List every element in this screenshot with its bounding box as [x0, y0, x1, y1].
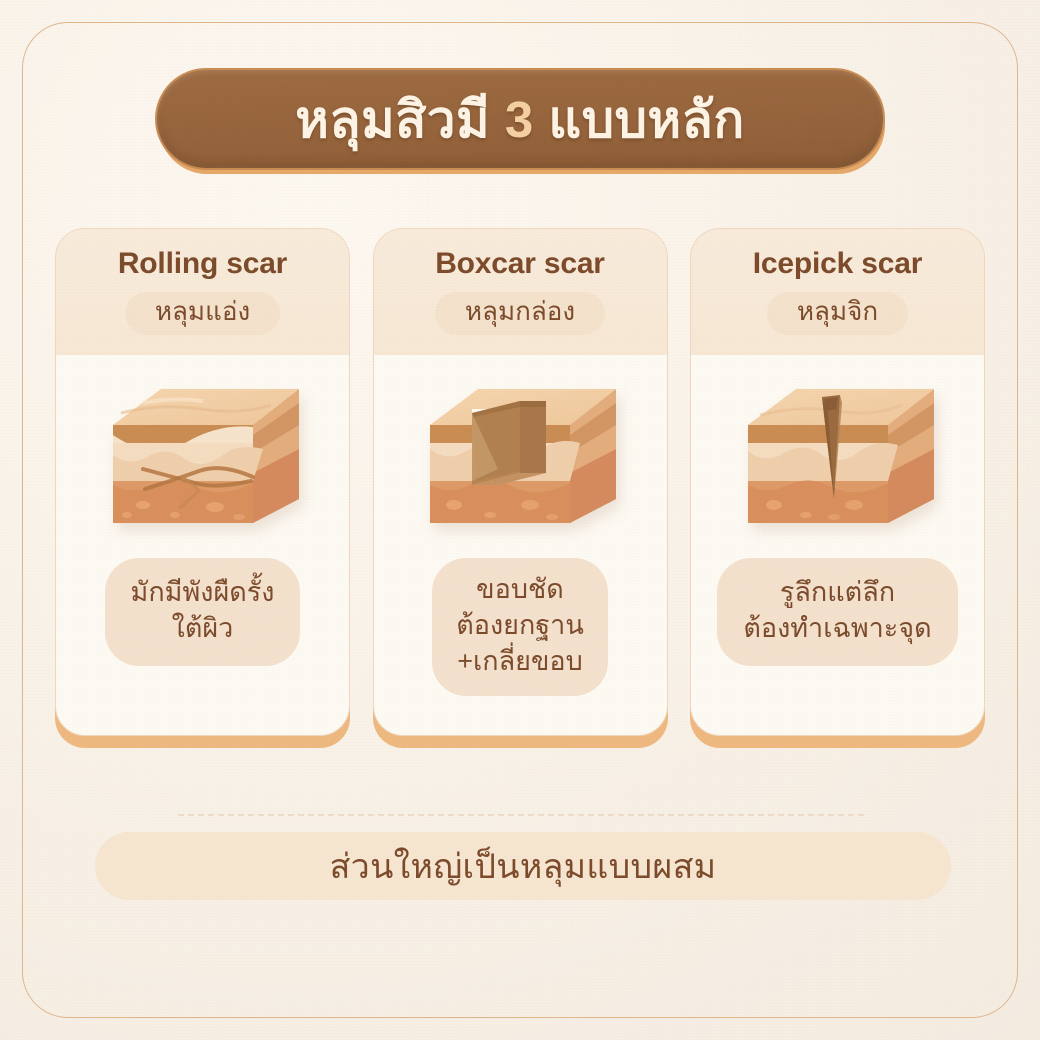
- card-description-wrap: ขอบชัด ต้องยกฐาน +เกลี่ยขอบ: [374, 550, 667, 696]
- description-line: มักมีพังผืดรั้ง: [131, 575, 275, 611]
- card-face: Rolling scar หลุมแอ่ง: [55, 228, 350, 736]
- infographic-page: หลุมสิวมี 3 แบบหลัก Rolling scar หลุมแอ่…: [0, 0, 1040, 1040]
- card-description: ขอบชัด ต้องยกฐาน +เกลี่ยขอบ: [432, 558, 608, 696]
- card-rolling-scar[interactable]: Rolling scar หลุมแอ่ง: [55, 228, 350, 740]
- card-description: มักมีพังผืดรั้ง ใต้ผิว: [105, 558, 301, 666]
- card-title: Rolling scar: [118, 247, 287, 281]
- title-banner: หลุมสิวมี 3 แบบหลัก: [155, 68, 885, 170]
- card-face: Icepick scar หลุมจิก: [690, 228, 985, 736]
- description-line: รูลึกแต่ลึก: [743, 575, 931, 611]
- card-description-wrap: รูลึกแต่ลึก ต้องทำเฉพาะจุด: [691, 550, 984, 666]
- card-header: Rolling scar หลุมแอ่ง: [56, 229, 349, 355]
- card-boxcar-scar[interactable]: Boxcar scar หลุมกล่อง: [373, 228, 668, 740]
- title-number: 3: [505, 91, 534, 148]
- card-title: Boxcar scar: [435, 247, 605, 281]
- card-header: Icepick scar หลุมจิก: [691, 229, 984, 355]
- footer-text: ส่วนใหญ่เป็นหลุมแบบผสม: [330, 839, 717, 893]
- skin-block-boxcar-scar-icon: [374, 355, 667, 550]
- card-description: รูลึกแต่ลึก ต้องทำเฉพาะจุด: [717, 558, 957, 666]
- dashed-divider: [178, 814, 864, 816]
- card-header: Boxcar scar หลุมกล่อง: [374, 229, 667, 355]
- page-title: หลุมสิวมี 3 แบบหลัก: [295, 79, 744, 160]
- description-line: +เกลี่ยขอบ: [456, 644, 584, 680]
- card-description-wrap: มักมีพังผืดรั้ง ใต้ผิว: [56, 550, 349, 666]
- description-line: ขอบชัด: [456, 572, 584, 608]
- skin-block-rolling-scar-icon: [56, 355, 349, 550]
- title-suffix: แบบหลัก: [534, 91, 745, 148]
- title-banner-face: หลุมสิวมี 3 แบบหลัก: [155, 68, 885, 170]
- description-line: ต้องยกฐาน: [456, 608, 584, 644]
- card-face: Boxcar scar หลุมกล่อง: [373, 228, 668, 736]
- card-subtitle-pill: หลุมกล่อง: [435, 292, 605, 335]
- title-prefix: หลุมสิวมี: [295, 91, 505, 148]
- card-title: Icepick scar: [753, 247, 922, 281]
- skin-block-icepick-scar-icon: [691, 355, 984, 550]
- card-subtitle-pill: หลุมแอ่ง: [125, 292, 280, 335]
- card-icepick-scar[interactable]: Icepick scar หลุมจิก: [690, 228, 985, 740]
- description-line: ต้องทำเฉพาะจุด: [743, 611, 931, 647]
- footer-banner: ส่วนใหญ่เป็นหลุมแบบผสม: [95, 832, 951, 900]
- description-line: ใต้ผิว: [131, 611, 275, 647]
- scar-type-cards: Rolling scar หลุมแอ่ง: [55, 228, 985, 748]
- card-subtitle-pill: หลุมจิก: [767, 292, 908, 335]
